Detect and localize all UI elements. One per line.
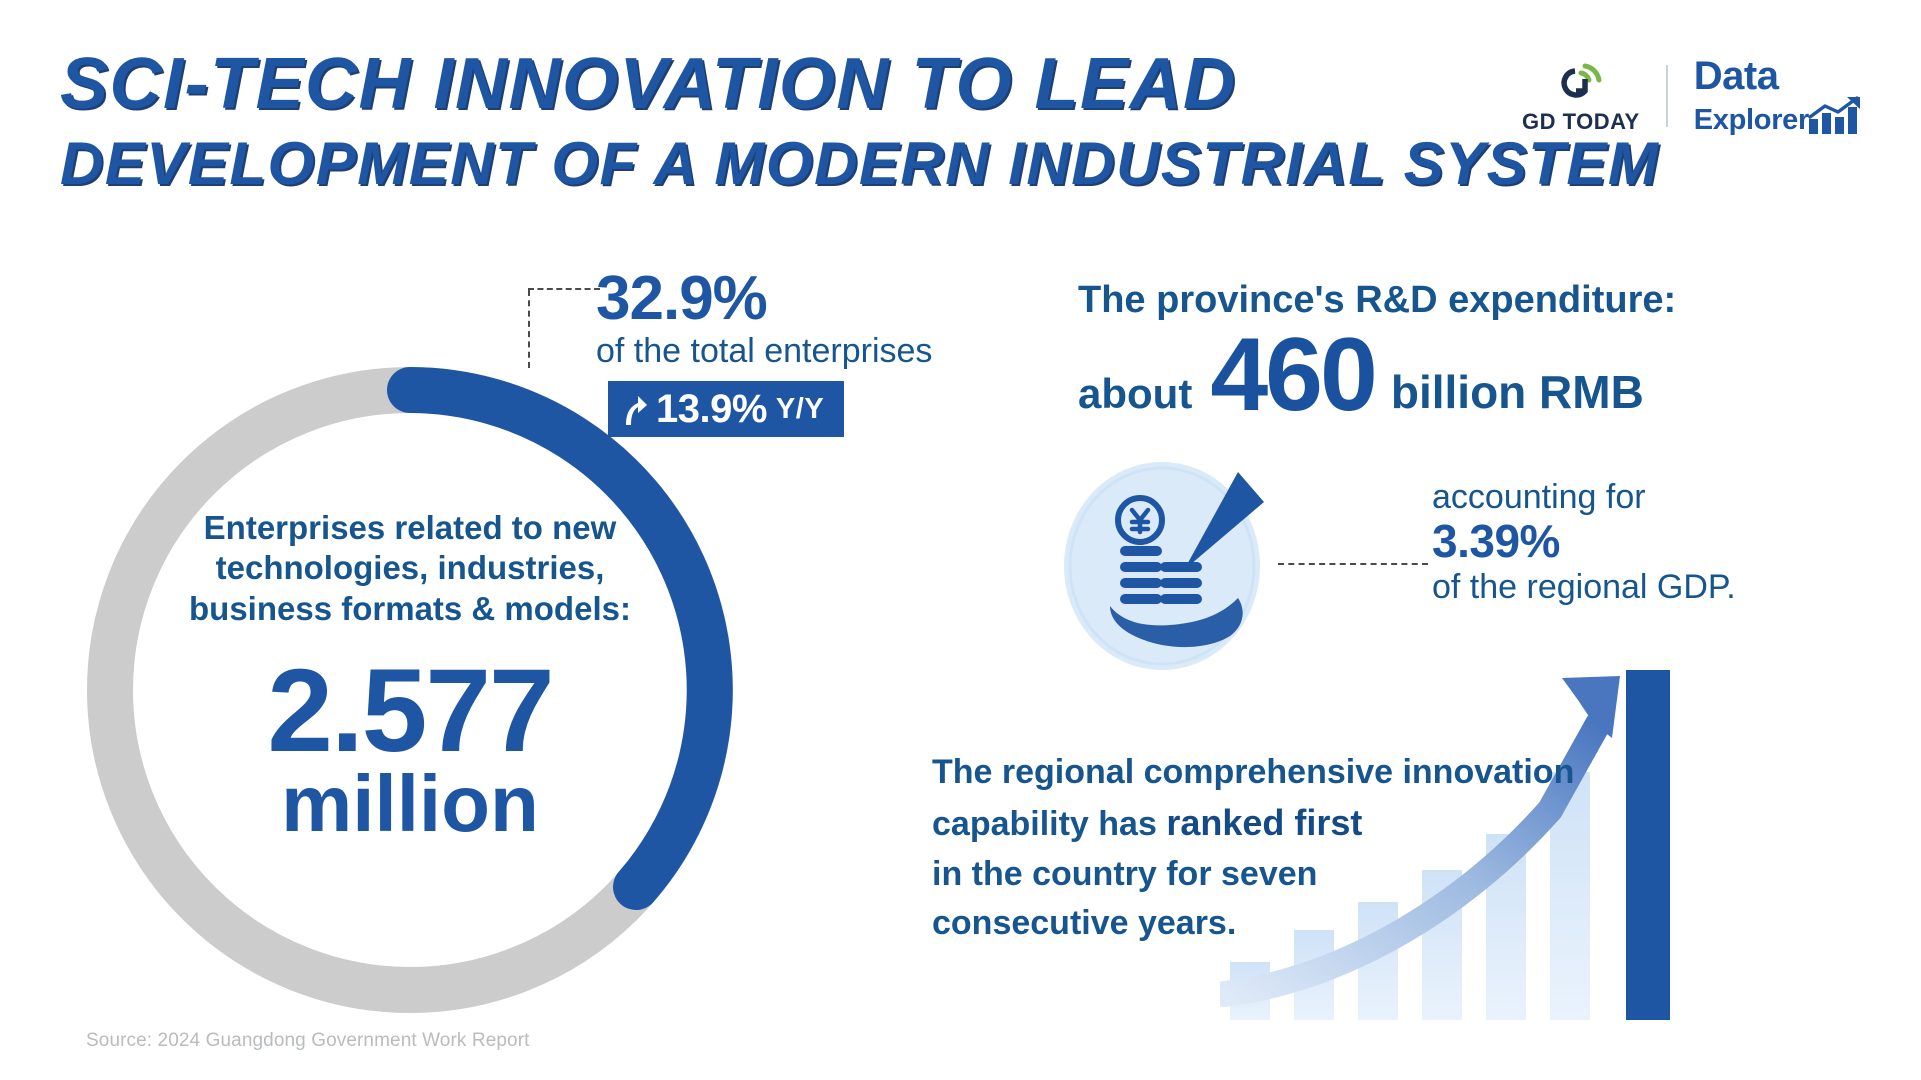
- rd-amount-unit: billion RMB: [1391, 369, 1644, 421]
- donut-unit: million: [154, 764, 666, 844]
- yoy-badge: 13.9% Y/Y: [608, 381, 844, 437]
- gdp-percent-value: 3.39%: [1432, 516, 1872, 568]
- page-title: SCI-TECH INNOVATION TO LEAD DEVELOPMENT …: [60, 48, 1520, 194]
- rd-amount-value: 460: [1210, 330, 1375, 422]
- bill-stack-right: [1160, 562, 1202, 604]
- title-line-2: DEVELOPMENT OF A MODERN INDUSTRIAL SYSTE…: [60, 134, 1520, 194]
- donut-center-content: Enterprises related to new technologies,…: [154, 508, 666, 844]
- percent-subtitle: of the total enterprises: [596, 332, 1016, 371]
- percent-value: 32.9%: [596, 268, 1016, 330]
- rd-heading: The province's R&D expenditure:: [1078, 280, 1888, 322]
- donut-value: 2.577: [154, 655, 666, 768]
- yoy-label: Y/Y: [776, 395, 824, 424]
- logo-divider: [1666, 65, 1668, 127]
- rd-about-label: about: [1078, 373, 1192, 421]
- gdp-prefix: accounting for: [1432, 478, 1872, 516]
- bar-chart-arrow-icon: [1807, 95, 1869, 135]
- rd-amount-row: about 460 billion RMB: [1078, 330, 1888, 422]
- gd-today-logo[interactable]: GD TODAY: [1522, 58, 1666, 135]
- yoy-value: 13.9%: [656, 389, 767, 429]
- gdp-callout: accounting for 3.39% of the regional GDP…: [1432, 478, 1872, 606]
- gd-today-swirl-icon: [1554, 58, 1608, 106]
- donut-caption: Enterprises related to new technologies,…: [154, 508, 666, 629]
- gd-today-label: GD TODAY: [1522, 109, 1640, 135]
- donut-leader-line: [528, 288, 600, 366]
- data-explorer-label-bottom: Explorer: [1694, 106, 1809, 135]
- logo-group: GD TODAY Data Explorer: [1522, 48, 1869, 144]
- rank-line-2-prefix: capability has: [932, 805, 1157, 843]
- enterprises-donut-chart: Enterprises related to new technologies,…: [58, 338, 762, 1042]
- data-explorer-logo[interactable]: Data Explorer: [1694, 57, 1869, 135]
- title-line-1: SCI-TECH INNOVATION TO LEAD: [60, 48, 1520, 120]
- up-arrow-icon: [622, 392, 648, 426]
- ranking-text-block: The regional comprehensive innovation ca…: [932, 748, 1652, 948]
- rank-line-1: The regional comprehensive innovation: [932, 748, 1652, 797]
- data-explorer-label-top: Data: [1694, 57, 1869, 95]
- source-note: Source: 2024 Guangdong Government Work R…: [86, 1030, 530, 1052]
- gdp-suffix: of the regional GDP.: [1432, 568, 1872, 606]
- rank-highlight: ranked first: [1166, 802, 1362, 843]
- rd-expenditure-block: The province's R&D expenditure: about 46…: [1078, 280, 1888, 421]
- rank-line-2: capability has ranked first: [932, 797, 1652, 849]
- infographic-canvas: SCI-TECH INNOVATION TO LEAD DEVELOPMENT …: [0, 0, 1921, 1080]
- rank-line-3: in the country for seven: [932, 850, 1652, 899]
- rank-line-4: consecutive years.: [932, 899, 1652, 948]
- percent-callout: 32.9% of the total enterprises 13.9% Y/Y: [596, 268, 1016, 437]
- gdp-leader-line: [1278, 563, 1428, 565]
- money-in-hand-icon: [1062, 458, 1294, 674]
